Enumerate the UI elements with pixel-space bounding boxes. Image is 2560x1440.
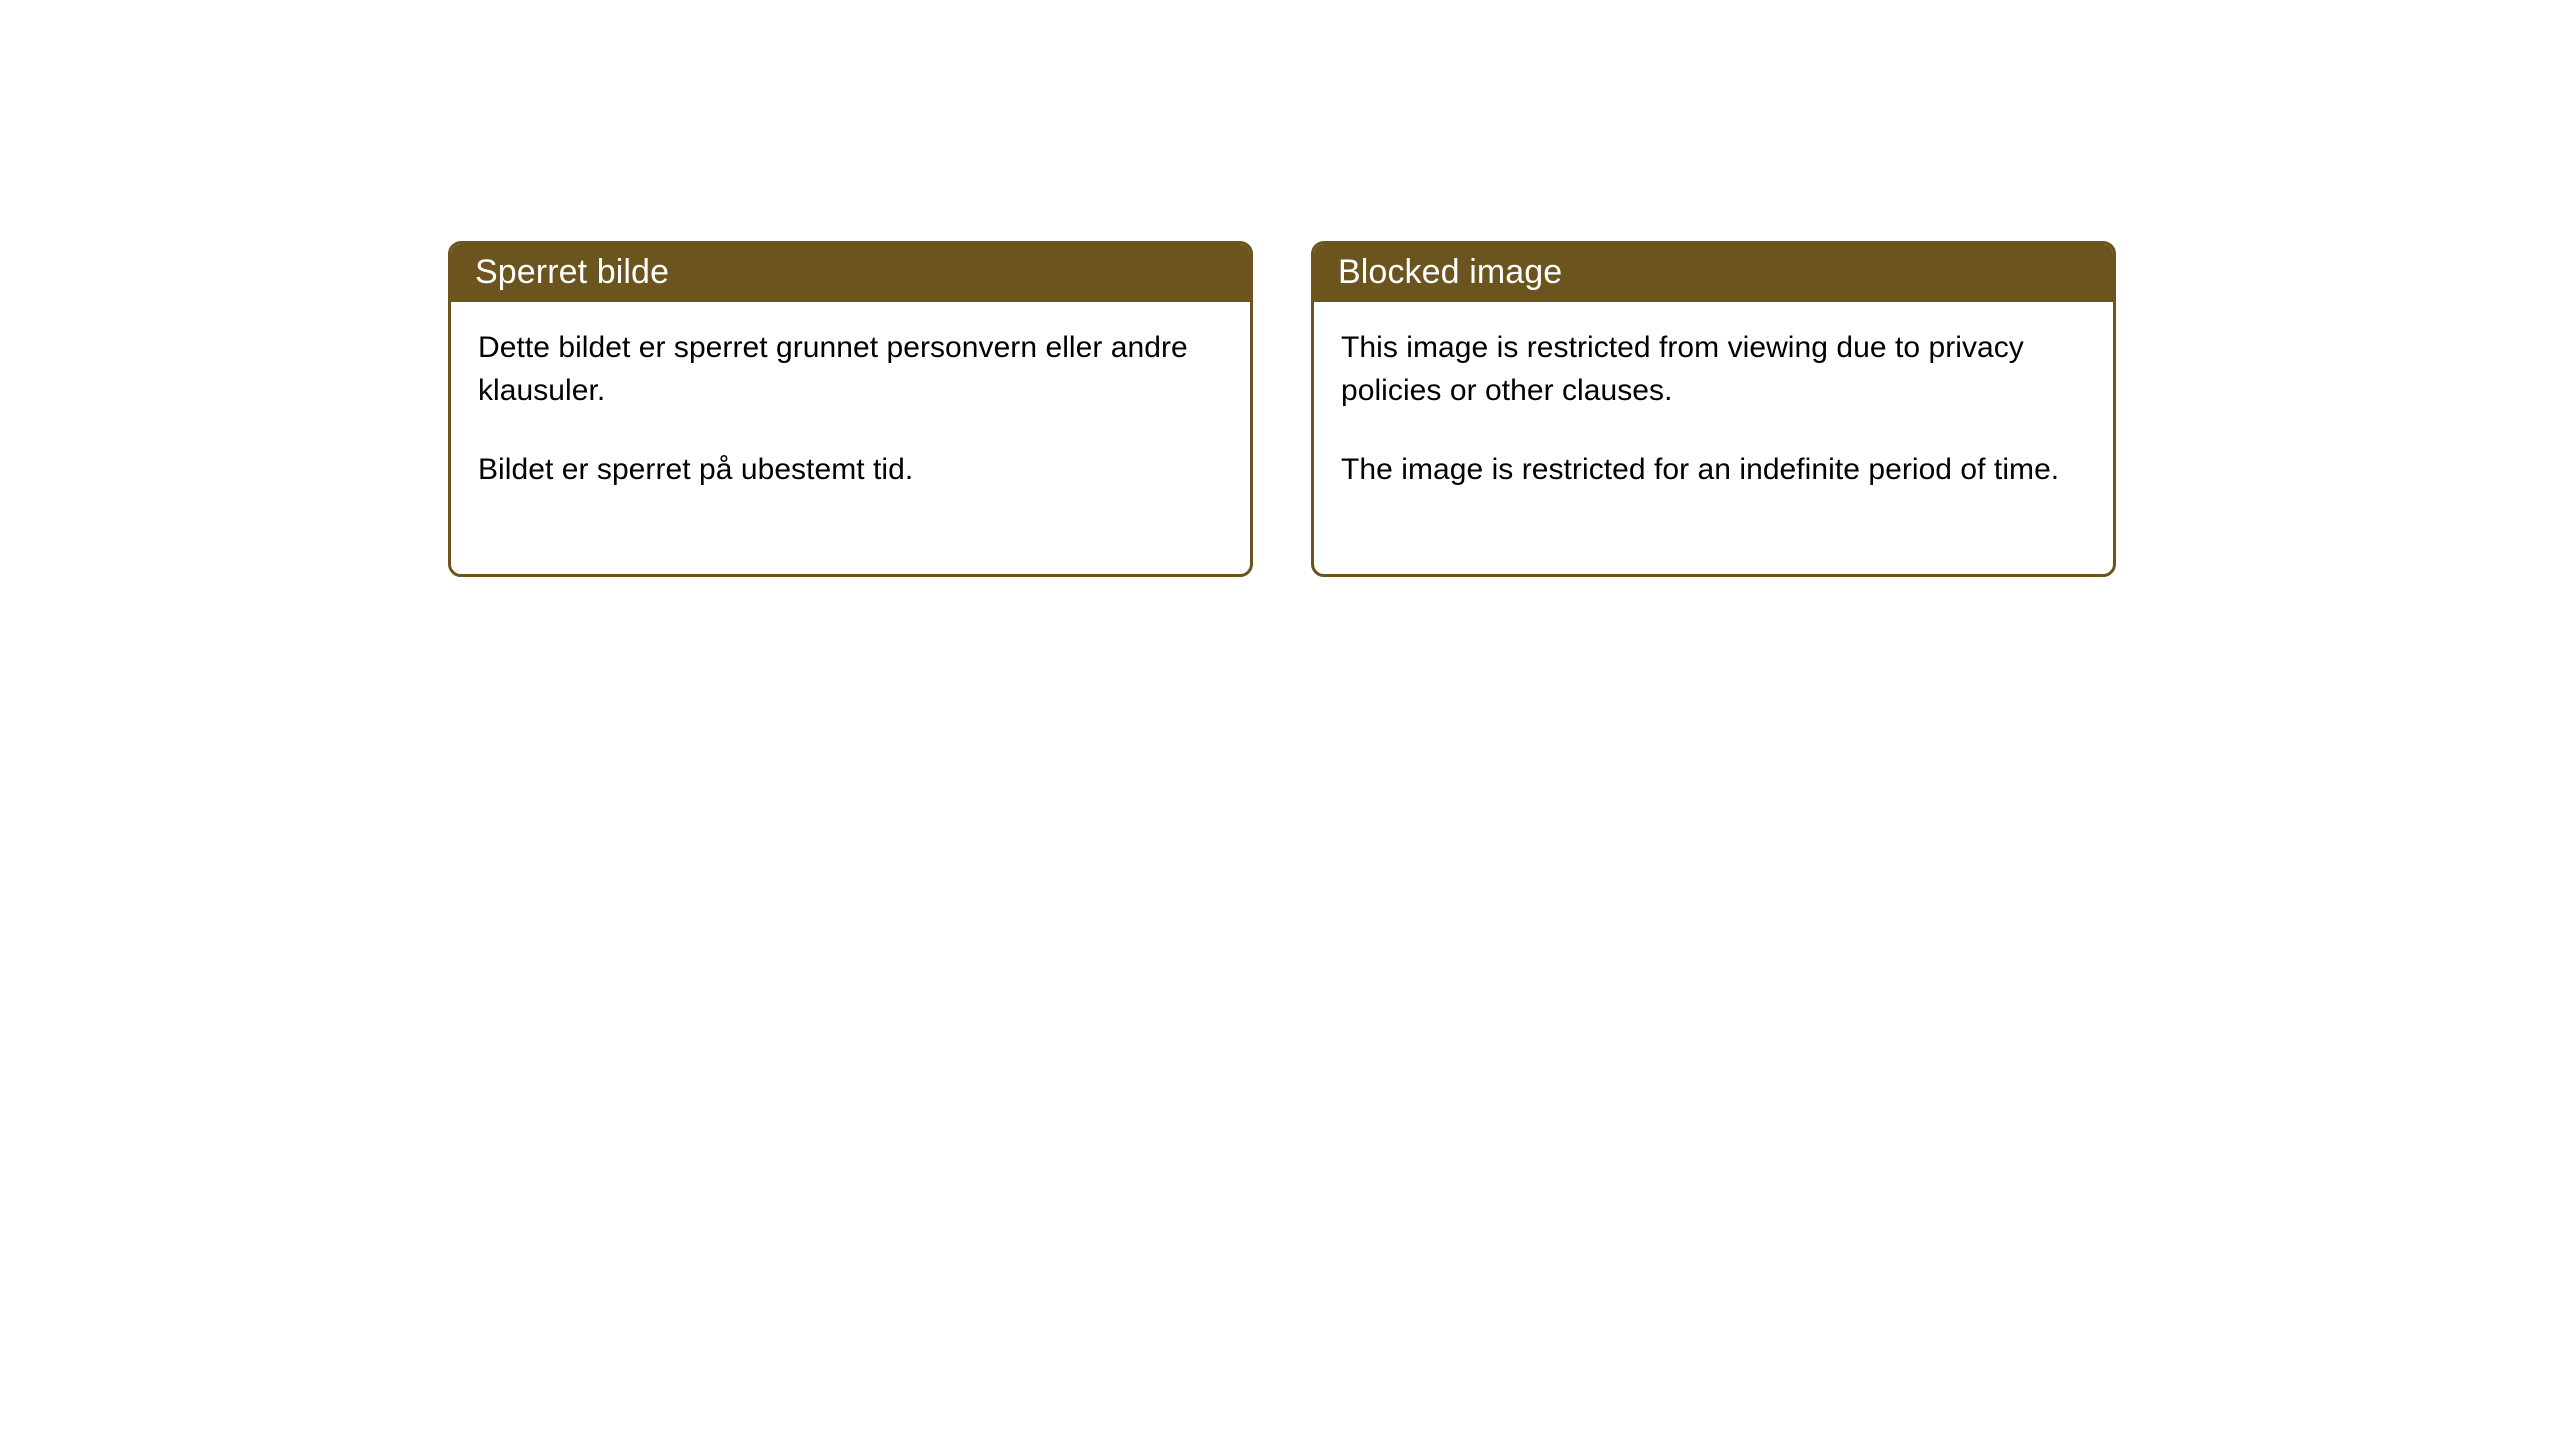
blocked-image-card-english: Blocked image This image is restricted f… xyxy=(1311,241,2116,577)
blocked-image-card-norwegian: Sperret bilde Dette bildet er sperret gr… xyxy=(448,241,1253,577)
card-body: This image is restricted from viewing du… xyxy=(1314,302,2113,574)
card-header-bar: Sperret bilde xyxy=(448,241,1253,302)
card-body: Dette bildet er sperret grunnet personve… xyxy=(451,302,1250,574)
card-title: Sperret bilde xyxy=(475,252,669,292)
card-header-bar: Blocked image xyxy=(1311,241,2116,302)
card-paragraph-primary: This image is restricted from viewing du… xyxy=(1341,326,2093,412)
card-paragraph-primary: Dette bildet er sperret grunnet personve… xyxy=(478,326,1190,412)
card-title: Blocked image xyxy=(1338,252,1562,292)
card-paragraph-secondary: Bildet er sperret på ubestemt tid. xyxy=(478,448,1190,491)
page-root: Sperret bilde Dette bildet er sperret gr… xyxy=(0,0,2560,1440)
card-paragraph-secondary: The image is restricted for an indefinit… xyxy=(1341,448,2093,491)
blocked-image-notice-deck: Sperret bilde Dette bildet er sperret gr… xyxy=(448,241,2116,577)
